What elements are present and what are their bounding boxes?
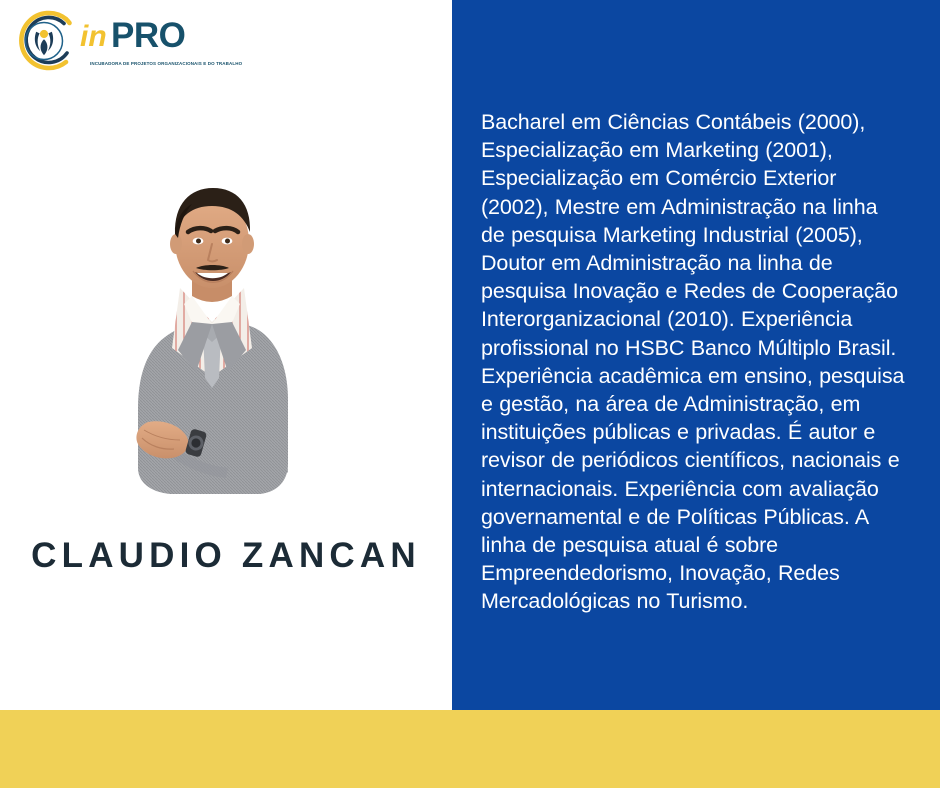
person-in-circle-icon <box>12 10 78 72</box>
footer-bar <box>0 710 940 788</box>
logo-in-text: in <box>80 20 107 53</box>
logo-pro-text: PRO <box>111 16 185 55</box>
inpro-wordmark: in PRO <box>80 15 228 55</box>
page-title: CLAUDIO ZANCAN <box>0 536 452 576</box>
bio-text: Bacharel em Ciências Contábeis (2000), E… <box>481 108 905 616</box>
logo-tagline: INCUBADORA DE PROJETOS ORGANIZACIONAIS E… <box>90 61 243 66</box>
inpro-logo: in PRO INCUBADORA DE PROJETOS ORGANIZACI… <box>12 8 227 74</box>
profile-card: in PRO INCUBADORA DE PROJETOS ORGANIZACI… <box>0 0 940 788</box>
portrait-photo <box>92 172 332 502</box>
bio-panel: Bacharel em Ciências Contábeis (2000), E… <box>452 0 940 710</box>
